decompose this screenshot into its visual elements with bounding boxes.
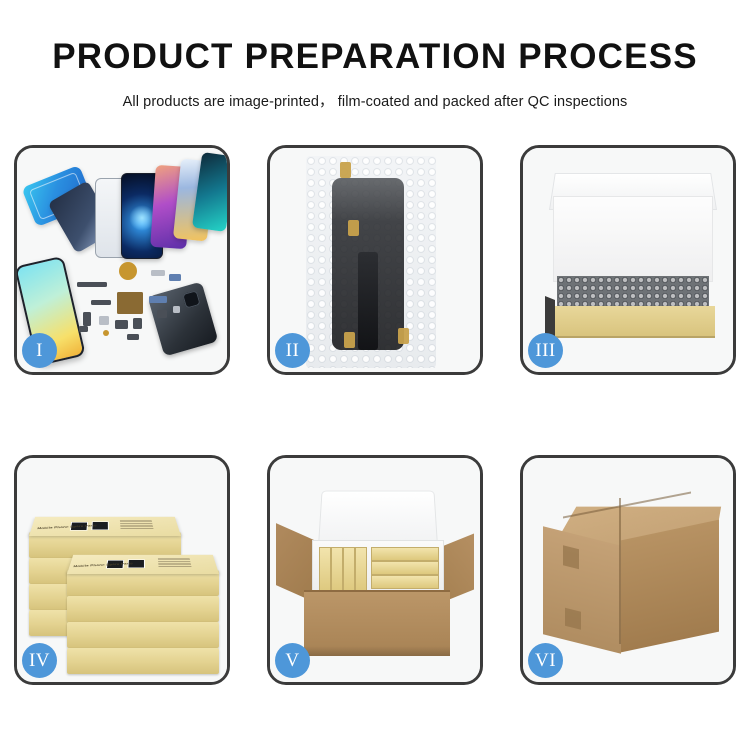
page-subtitle: All products are image-printed， film-coa… xyxy=(0,90,750,111)
step-badge-1: I xyxy=(22,333,57,368)
box-label-text: Mobile Phone Spare Parts xyxy=(37,524,97,530)
tape-piece xyxy=(348,220,359,236)
step-badge-5: V xyxy=(275,643,310,678)
box-front-panel xyxy=(551,306,715,338)
page-title: PRODUCT PREPARATION PROCESS xyxy=(0,38,750,77)
bubble-wrap-bag xyxy=(306,156,436,368)
step-panel-4: Mobile Phone Spare Parts Mobile Phone Sp… xyxy=(14,455,230,685)
step-panel-3: III xyxy=(520,145,736,375)
box-side-edge xyxy=(545,296,555,338)
flex-cable xyxy=(358,252,378,350)
carton-vertical-seam xyxy=(619,498,621,644)
carton-left-face xyxy=(543,526,621,653)
carton-right-face xyxy=(621,520,719,653)
tape-piece xyxy=(340,162,351,178)
foam-sheet xyxy=(553,196,713,282)
product-preparation-infographic: PRODUCT PREPARATION PROCESS All products… xyxy=(0,0,750,750)
carton-front-panel xyxy=(304,590,450,656)
header: PRODUCT PREPARATION PROCESS All products… xyxy=(0,0,750,111)
foam-box-lid xyxy=(318,491,438,546)
step-panel-2: II xyxy=(267,145,483,375)
step-badge-6: VI xyxy=(528,643,563,678)
step-badge-2: II xyxy=(275,333,310,368)
step-panel-6: VI xyxy=(520,455,736,685)
box-label-text: Mobile Phone Spare Parts xyxy=(73,562,133,568)
step-badge-4: IV xyxy=(22,643,57,678)
stacked-boxes: Mobile Phone Spare Parts Mobile Phone Sp… xyxy=(29,478,225,668)
step-panel-1: I xyxy=(14,145,230,375)
spare-parts-cluster xyxy=(73,260,223,360)
steps-grid: I II xyxy=(14,145,736,685)
box-lid-lower: Mobile Phone Spare Parts xyxy=(67,555,219,574)
bubble-wrapped-units xyxy=(557,276,709,308)
tape-piece xyxy=(398,328,409,344)
tape-piece xyxy=(344,332,355,348)
box-lid-upper: Mobile Phone Spare Parts xyxy=(29,517,181,536)
step-panel-5: V xyxy=(267,455,483,685)
step-badge-3: III xyxy=(528,333,563,368)
